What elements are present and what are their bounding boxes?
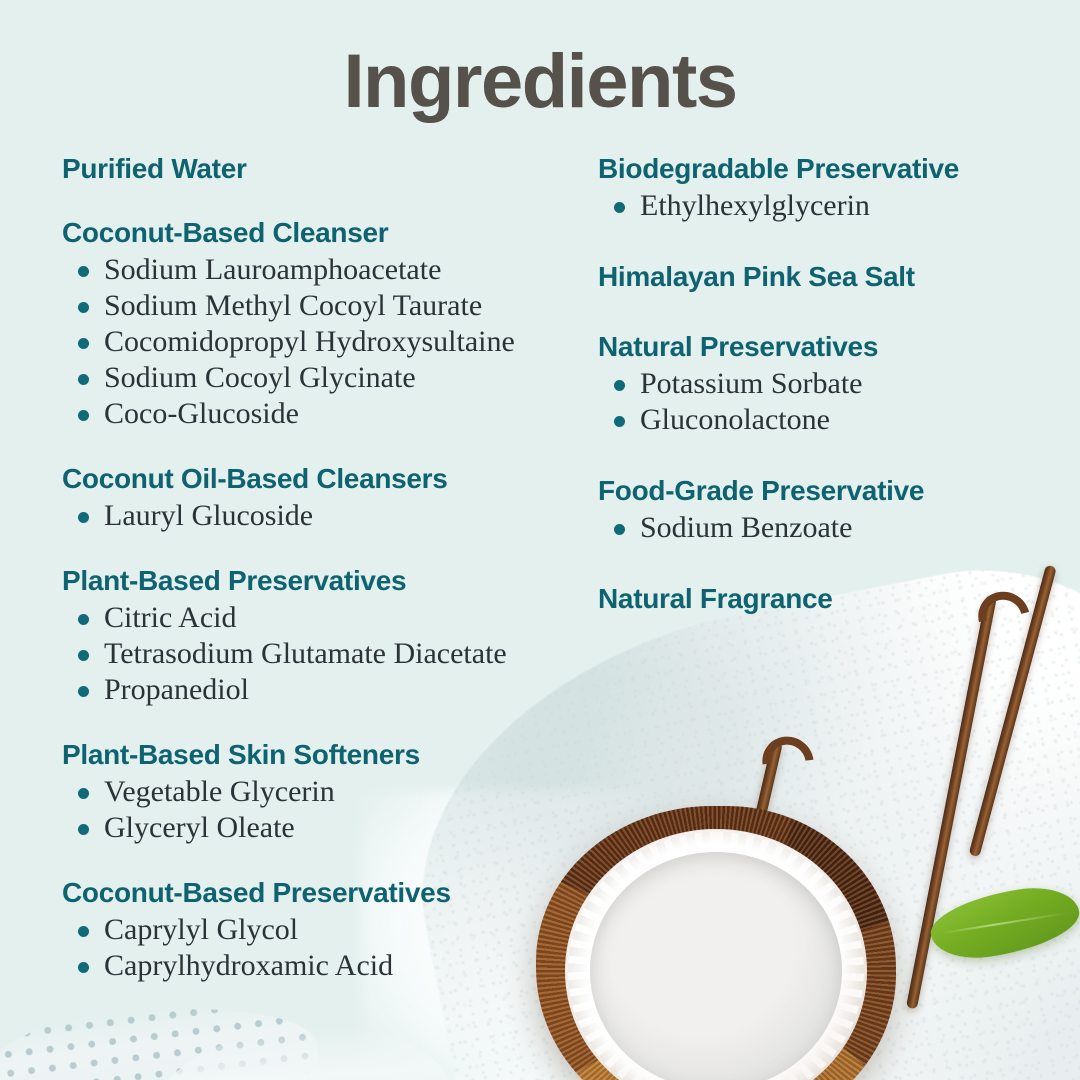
ingredient-group: Plant-Based PreservativesCitric AcidTetr… <box>62 564 582 708</box>
ingredient-list: Lauryl Glucoside <box>62 498 582 534</box>
ingredient-group: Himalayan Pink Sea Salt <box>598 260 1058 294</box>
ingredient-name: Ethylhexylglycerin <box>640 189 870 222</box>
list-item: Vegetable Glycerin <box>78 774 582 810</box>
ingredient-name: Propanediol <box>104 673 249 706</box>
ingredient-group-heading: Coconut-Based Cleanser <box>62 216 582 250</box>
ingredient-name: Vegetable Glycerin <box>104 775 335 808</box>
ingredient-group-heading: Natural Preservatives <box>598 330 1058 364</box>
ingredient-name: Coco-Glucoside <box>104 397 299 430</box>
ingredient-name: Cocomidopropyl Hydroxysultaine <box>104 325 515 358</box>
ingredient-group-heading: Plant-Based Skin Softeners <box>62 738 582 772</box>
list-item: Lauryl Glucoside <box>78 498 582 534</box>
bullet-icon <box>614 524 625 535</box>
ingredient-list: Sodium LauroamphoacetateSodium Methyl Co… <box>62 252 582 432</box>
ingredient-list: Potassium SorbateGluconolactone <box>598 366 1058 438</box>
ingredient-group: Coconut-Based PreservativesCaprylyl Glyc… <box>62 876 582 984</box>
bullet-icon <box>78 302 89 313</box>
bullet-icon <box>78 614 89 625</box>
bullet-icon <box>78 266 89 277</box>
ingredient-group-heading: Himalayan Pink Sea Salt <box>598 260 1058 294</box>
list-item: Coco-Glucoside <box>78 396 582 432</box>
ingredient-name: Caprylyl Glycol <box>104 913 298 946</box>
ingredient-group-heading: Coconut Oil-Based Cleansers <box>62 462 582 496</box>
ingredients-column-left: Purified WaterCoconut-Based CleanserSodi… <box>62 152 582 1014</box>
bullet-icon <box>78 650 89 661</box>
ingredient-group: Biodegradable PreservativeEthylhexylglyc… <box>598 152 1058 224</box>
ingredient-group: Coconut Oil-Based CleansersLauryl Glucos… <box>62 462 582 534</box>
list-item: Sodium Methyl Cocoyl Taurate <box>78 288 582 324</box>
ingredient-group: Purified Water <box>62 152 582 186</box>
page-title: Ingredients <box>0 38 1080 125</box>
ingredients-content: Ingredients Purified WaterCoconut-Based … <box>0 0 1080 1080</box>
ingredient-name: Gluconolactone <box>640 403 830 436</box>
ingredient-group-heading: Coconut-Based Preservatives <box>62 876 582 910</box>
list-item: Sodium Benzoate <box>614 510 1058 546</box>
list-item: Sodium Cocoyl Glycinate <box>78 360 582 396</box>
list-item: Caprylhydroxamic Acid <box>78 948 582 984</box>
bullet-icon <box>78 962 89 973</box>
bullet-icon <box>78 686 89 697</box>
ingredient-list: Citric AcidTetrasodium Glutamate Diaceta… <box>62 600 582 708</box>
ingredient-name: Lauryl Glucoside <box>104 499 313 532</box>
list-item: Cocomidopropyl Hydroxysultaine <box>78 324 582 360</box>
bullet-icon <box>78 410 89 421</box>
ingredient-group: Plant-Based Skin SoftenersVegetable Glyc… <box>62 738 582 846</box>
bullet-icon <box>78 512 89 523</box>
ingredient-group-heading: Biodegradable Preservative <box>598 152 1058 186</box>
ingredient-name: Sodium Methyl Cocoyl Taurate <box>104 289 482 322</box>
list-item: Propanediol <box>78 672 582 708</box>
bullet-icon <box>614 380 625 391</box>
list-item: Ethylhexylglycerin <box>614 188 1058 224</box>
ingredient-group: Natural Fragrance <box>598 582 1058 616</box>
bullet-icon <box>614 416 625 427</box>
ingredient-group: Natural PreservativesPotassium SorbateGl… <box>598 330 1058 438</box>
ingredient-group-heading: Plant-Based Preservatives <box>62 564 582 598</box>
list-item: Tetrasodium Glutamate Diacetate <box>78 636 582 672</box>
bullet-icon <box>614 202 625 213</box>
ingredient-group-heading: Natural Fragrance <box>598 582 1058 616</box>
ingredient-name: Glyceryl Oleate <box>104 811 295 844</box>
ingredient-name: Sodium Cocoyl Glycinate <box>104 361 416 394</box>
ingredient-group-heading: Purified Water <box>62 152 582 186</box>
bullet-icon <box>78 824 89 835</box>
list-item: Citric Acid <box>78 600 582 636</box>
bullet-icon <box>78 926 89 937</box>
ingredient-name: Potassium Sorbate <box>640 367 863 400</box>
ingredients-column-right: Biodegradable PreservativeEthylhexylglyc… <box>598 152 1058 652</box>
list-item: Sodium Lauroamphoacetate <box>78 252 582 288</box>
ingredient-name: Caprylhydroxamic Acid <box>104 949 393 982</box>
ingredient-name: Sodium Benzoate <box>640 511 852 544</box>
ingredient-list: Vegetable GlycerinGlyceryl Oleate <box>62 774 582 846</box>
ingredient-name: Citric Acid <box>104 601 236 634</box>
ingredient-group: Food-Grade PreservativeSodium Benzoate <box>598 474 1058 546</box>
ingredient-list: Ethylhexylglycerin <box>598 188 1058 224</box>
ingredient-list: Caprylyl GlycolCaprylhydroxamic Acid <box>62 912 582 984</box>
ingredient-name: Tetrasodium Glutamate Diacetate <box>104 637 507 670</box>
list-item: Glyceryl Oleate <box>78 810 582 846</box>
list-item: Gluconolactone <box>614 402 1058 438</box>
list-item: Potassium Sorbate <box>614 366 1058 402</box>
bullet-icon <box>78 788 89 799</box>
ingredient-group-heading: Food-Grade Preservative <box>598 474 1058 508</box>
bullet-icon <box>78 374 89 385</box>
bullet-icon <box>78 338 89 349</box>
list-item: Caprylyl Glycol <box>78 912 582 948</box>
ingredient-list: Sodium Benzoate <box>598 510 1058 546</box>
ingredients-poster: Ingredients Purified WaterCoconut-Based … <box>0 0 1080 1080</box>
ingredient-group: Coconut-Based CleanserSodium Lauroamphoa… <box>62 216 582 432</box>
ingredient-name: Sodium Lauroamphoacetate <box>104 253 441 286</box>
